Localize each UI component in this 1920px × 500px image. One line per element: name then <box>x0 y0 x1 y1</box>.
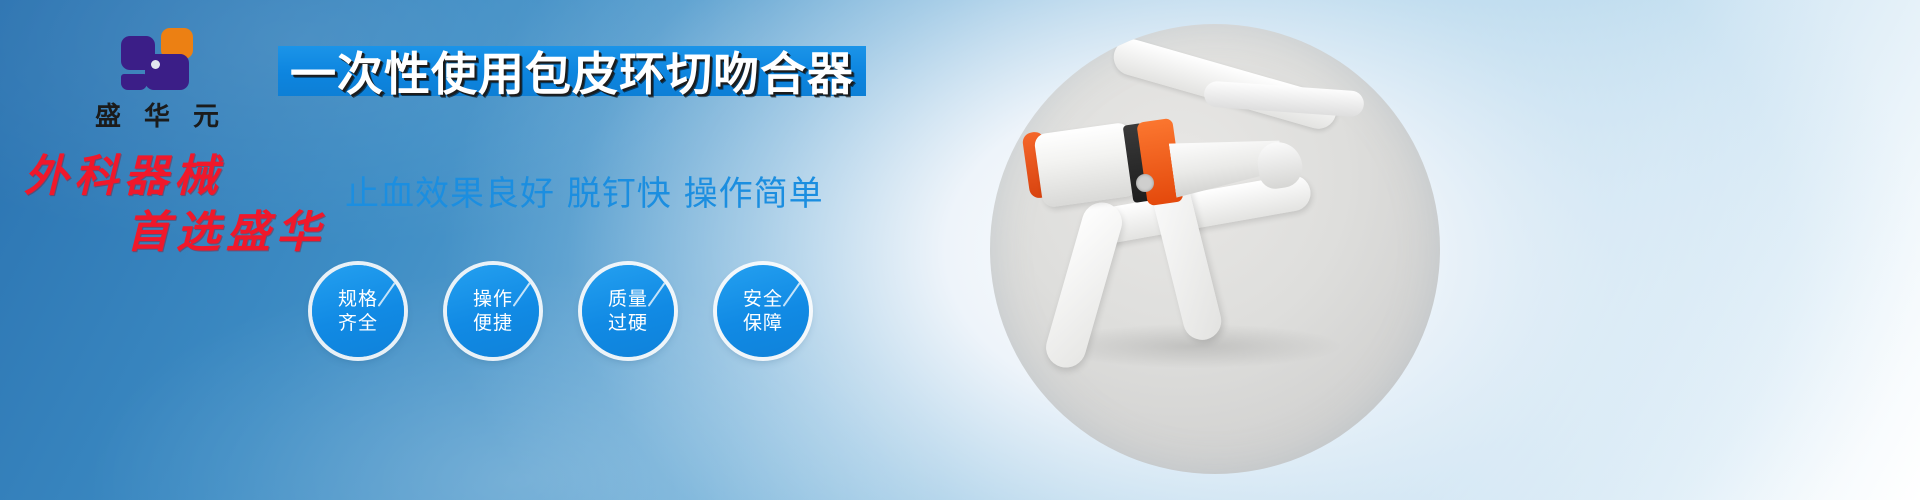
badge-label-line2: 便捷 <box>473 311 513 335</box>
slash-decoration-icon <box>513 281 532 307</box>
product-upper-arm-secondary <box>1203 80 1364 117</box>
badge-label-line2: 齐全 <box>338 311 378 335</box>
badge-label-line1: 安全 <box>743 287 783 311</box>
badge-operation[interactable]: 操作 便捷 <box>447 265 539 357</box>
brand-logo[interactable]: 盛 华 元 <box>62 28 252 133</box>
promotional-banner: 盛 华 元 一次性使用包皮环切吻合器 外科器械 首选盛华 止血效果良好 脱钉快 … <box>0 0 1920 500</box>
product-pivot <box>1136 174 1154 192</box>
badge-specifications[interactable]: 规格 齐全 <box>312 265 404 357</box>
badge-quality[interactable]: 质量 过硬 <box>582 265 674 357</box>
logo-mark-icon <box>121 28 193 90</box>
product-image <box>990 24 1440 474</box>
slash-decoration-icon <box>783 281 802 307</box>
logo-shape-right <box>145 54 189 90</box>
brand-name: 盛 华 元 <box>62 96 252 133</box>
product-barrel <box>1033 122 1138 209</box>
logo-shape-dot <box>151 60 160 69</box>
subtitle-text: 止血效果良好 脱钉快 操作简单 <box>345 166 824 215</box>
badge-label-line2: 过硬 <box>608 311 648 335</box>
calligraphy-line-1: 外科器械 <box>24 152 338 202</box>
calligraphy-slogan: 外科器械 首选盛华 <box>18 152 338 258</box>
badge-safety[interactable]: 安全 保障 <box>717 265 809 357</box>
calligraphy-line-2: 首选盛华 <box>126 208 338 258</box>
page-title: 一次性使用包皮环切吻合器 <box>292 42 852 100</box>
badge-label-line1: 操作 <box>473 287 513 311</box>
slash-decoration-icon <box>378 281 397 307</box>
badge-label-line1: 规格 <box>338 287 378 311</box>
logo-shape-bottom <box>121 74 147 90</box>
badge-label-line2: 保障 <box>743 311 783 335</box>
badge-label-line1: 质量 <box>608 287 648 311</box>
feature-badge-list: 规格 齐全 操作 便捷 质量 过硬 安全 保障 <box>312 265 809 357</box>
slash-decoration-icon <box>648 281 667 307</box>
